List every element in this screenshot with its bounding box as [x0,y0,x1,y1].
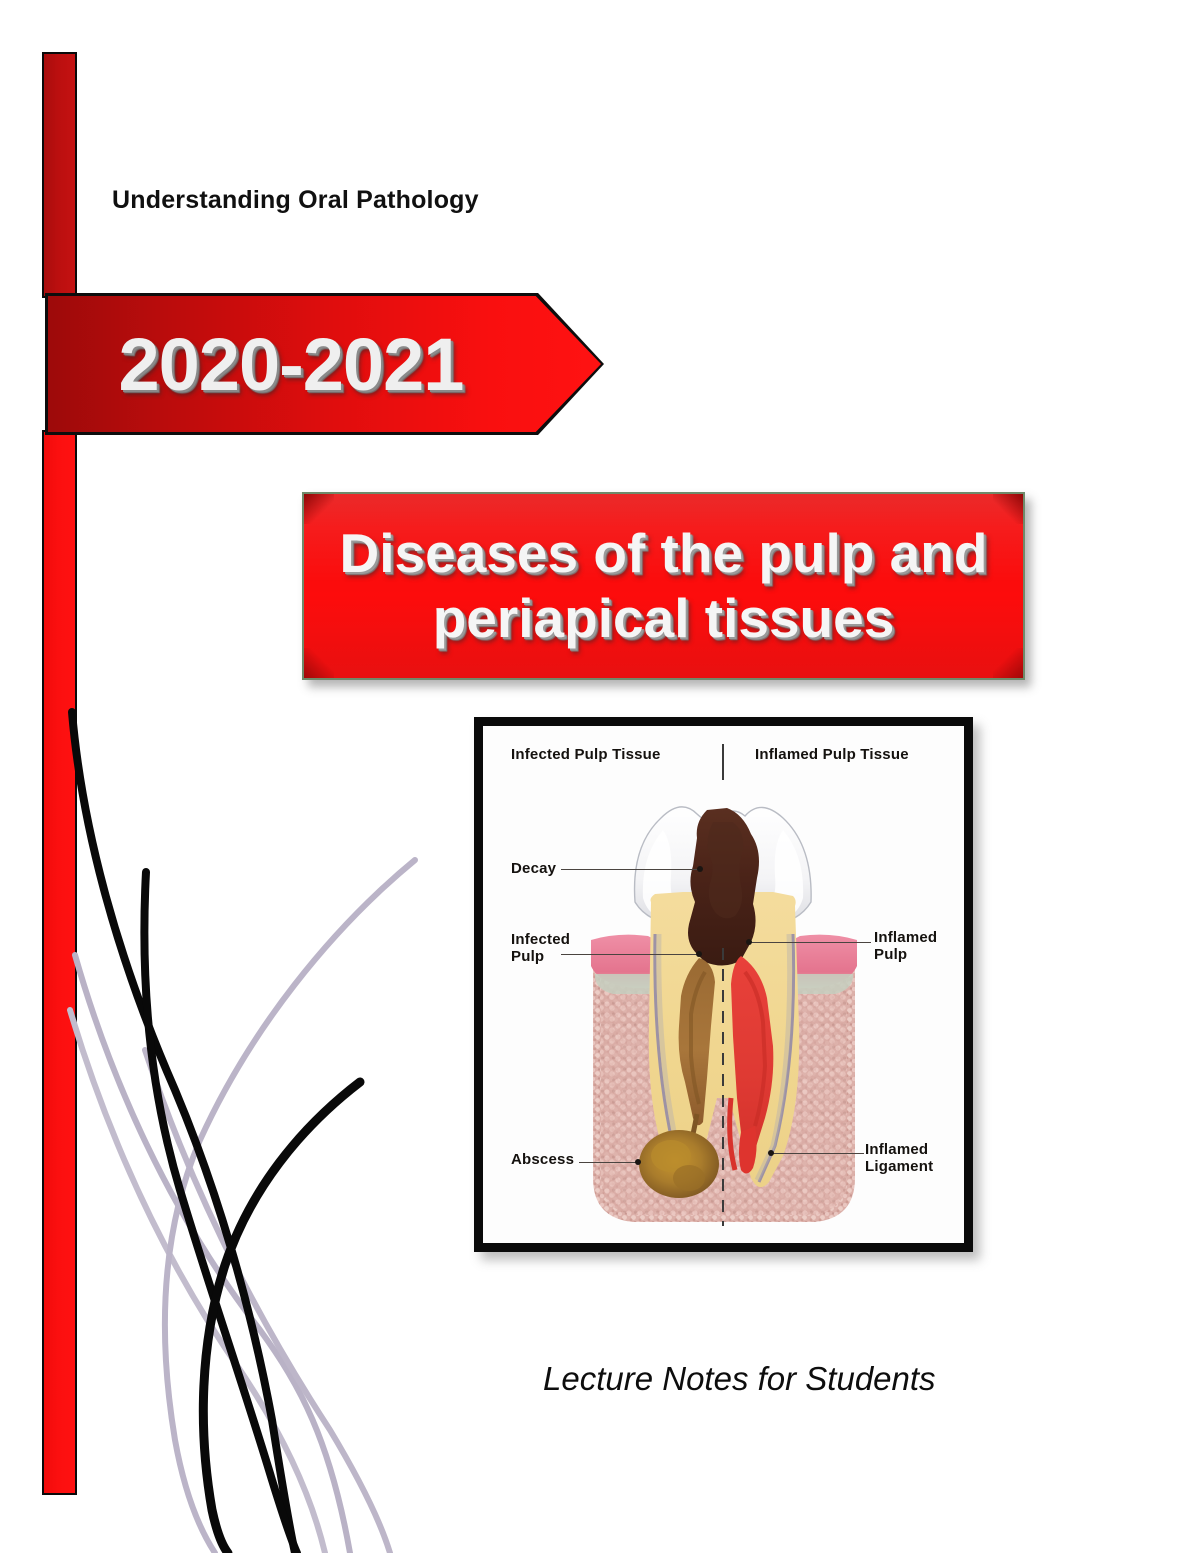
leader-decay [561,869,699,870]
figure-label-inflamed-pulp-tissue: Inflamed Pulp Tissue [755,746,909,763]
tooth-diagram-frame: Infected Pulp Tissue Inflamed Pulp Tissu… [474,717,973,1252]
page-title-line-2: periapical tissues [433,586,895,651]
figure-label-inflamed-pulp: Inflamed Pulp [874,929,964,964]
figure-label-inflamed-ligament: Inflamed Ligament [865,1141,964,1176]
figure-label-infected-pulp-tissue: Infected Pulp Tissue [511,746,661,763]
leader-abscess [579,1162,637,1163]
dot-inflamed-pulp [746,939,752,945]
document-title-plaque: Diseases of the pulp and periapical tiss… [302,492,1025,680]
swoosh-black-3 [203,1082,360,1553]
swoosh-black-2 [144,872,297,1553]
tooth-diagram: Infected Pulp Tissue Inflamed Pulp Tissu… [483,726,964,1243]
page-caption: Lecture Notes for Students [543,1360,936,1398]
figure-label-infected-pulp: Infected Pulp [511,931,591,966]
document-subject: Understanding Oral Pathology [112,186,479,215]
figure-label-decay: Decay [511,860,556,877]
dot-inflamed-ligament [768,1150,774,1156]
leader-inflamed-ligament [772,1153,864,1154]
dot-decay [697,866,703,872]
left-red-bar-upper [42,52,77,298]
page-title: Diseases of the pulp and periapical tiss… [304,494,1023,678]
swoosh-lavender-1 [75,955,350,1553]
dot-infected-pulp [696,951,702,957]
figure-label-inflamed-ligament-line1: Inflamed [865,1141,964,1158]
figure-label-inflamed-ligament-line2: Ligament [865,1158,964,1175]
swoosh-lavender-arc [165,860,415,1553]
figure-label-infected-pulp-line1: Infected [511,931,591,948]
academic-year-banner: 2020-2021 [45,293,604,435]
leader-inflamed-pulp [749,942,871,943]
swoosh-lavender-2 [70,1010,325,1553]
page-title-line-1: Diseases of the pulp and [340,521,988,586]
dot-abscess [635,1159,641,1165]
figure-label-abscess: Abscess [511,1151,574,1168]
figure-label-infected-pulp-line2: Pulp [511,948,591,965]
figure-label-inflamed-pulp-line1: Inflamed [874,929,964,946]
academic-year-text: 2020-2021 [45,293,537,435]
swoosh-lavender-3 [145,1050,390,1553]
swoosh-black-1 [72,712,295,1553]
left-red-bar-lower [42,430,77,1495]
figure-label-inflamed-pulp-line2: Pulp [874,946,964,963]
